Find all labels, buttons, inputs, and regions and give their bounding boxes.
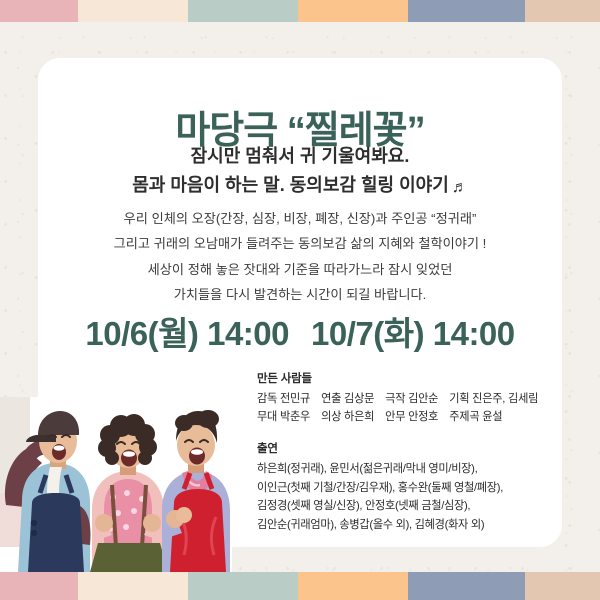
cast-heading: 출연 — [257, 440, 553, 456]
credit-item: 감독 전민규 — [257, 393, 310, 405]
credit-item: 안무 안정호 — [385, 411, 438, 423]
credits-row: 감독 전민규연출 김상문극작 김안순기획 진은주, 김세림 — [257, 390, 553, 408]
credit-item: 기획 진은주, 김세림 — [449, 393, 538, 405]
subtitle-block: 잠시만 멈춰서 귀 기울여봐요. 몸과 마음이 하는 말. 동의보감 힐링 이야… — [38, 142, 562, 200]
showtime-1: 10/6(월) 14:00 — [85, 315, 289, 352]
subtitle-line-2: 몸과 마음이 하는 말. 동의보감 힐링 이야기 — [132, 175, 449, 195]
cast-photo-illustration — [0, 397, 232, 572]
color-swatch-sage-green — [188, 572, 298, 600]
color-swatch-dusty-pink — [0, 572, 78, 600]
credit-item: 연출 김상문 — [321, 393, 374, 405]
color-swatch-cream — [78, 572, 188, 600]
description-line: 세상이 정해 놓은 잣대와 기준을 따라가느라 잠시 잊었던 — [38, 257, 562, 282]
music-note-icon: ♬ — [452, 179, 468, 196]
color-swatch-peach — [298, 572, 408, 600]
description-paragraph: 우리 인체의 오장(간장, 심장, 비장, 폐장, 신장)과 주인공 “정귀래”… — [38, 206, 562, 307]
color-swatch-slate-blue — [408, 0, 525, 22]
cast-line: 김정경(셋째 영실/신장), 안정호(넷째 금철/심장), — [257, 497, 553, 516]
credit-item: 극작 김안순 — [385, 393, 438, 405]
description-line: 그리고 귀래의 오남매가 들려주는 동의보감 삶의 지혜와 철학이야기 ! — [38, 231, 562, 256]
cast-line: 하은희(정귀래), 윤민서(젊은귀래/막내 영미/비장), — [257, 460, 553, 479]
credits-section: 만든 사람들 감독 전민규연출 김상문극작 김안순기획 진은주, 김세림 무대 … — [257, 370, 553, 535]
poster-root: 마당극 “찔레꽃” 잠시만 멈춰서 귀 기울여봐요. 몸과 마음이 하는 말. … — [0, 0, 600, 600]
color-swatch-peach — [298, 0, 408, 22]
cast-section: 출연 하은희(정귀래), 윤민서(젊은귀래/막내 영미/비장), 이인근(첫째 … — [257, 440, 553, 534]
cast-line: 이인근(첫째 기철/간장/김우재), 홍수완(둘째 영철/폐장), — [257, 479, 553, 498]
color-swatch-dusty-pink — [0, 0, 78, 22]
color-swatch-sage-green — [188, 0, 298, 22]
top-color-strip — [0, 0, 600, 22]
showtime-2: 10/7(화) 14:00 — [311, 315, 515, 352]
schedule-block: 10/6(월) 14:0010/7(화) 14:00 — [38, 307, 562, 355]
color-swatch-warm-tan — [525, 572, 600, 600]
cast-line: 김안순(귀래엄마), 송병갑(올수 외), 김혜경(화자 외) — [257, 516, 553, 535]
credits-row: 무대 박춘우의상 하은희안무 안정호주제곡 윤설 — [257, 408, 553, 426]
credit-item: 무대 박춘우 — [257, 411, 310, 423]
bottom-color-strip — [0, 572, 600, 600]
subtitle-line-1: 잠시만 멈춰서 귀 기울여봐요. — [38, 142, 562, 171]
cast-photo — [0, 397, 232, 572]
subtitle-line-2-wrap: 몸과 마음이 하는 말. 동의보감 힐링 이야기♬ — [38, 171, 562, 201]
description-line: 가치들을 다시 발견하는 시간이 되길 바랍니다. — [38, 282, 562, 307]
color-swatch-cream — [78, 0, 188, 22]
credit-item: 주제곡 윤설 — [449, 411, 502, 423]
credits-heading: 만든 사람들 — [257, 370, 553, 386]
color-swatch-slate-blue — [408, 572, 525, 600]
credit-item: 의상 하은희 — [321, 411, 374, 423]
color-swatch-warm-tan — [525, 0, 600, 22]
description-line: 우리 인체의 오장(간장, 심장, 비장, 폐장, 신장)과 주인공 “정귀래” — [38, 206, 562, 231]
